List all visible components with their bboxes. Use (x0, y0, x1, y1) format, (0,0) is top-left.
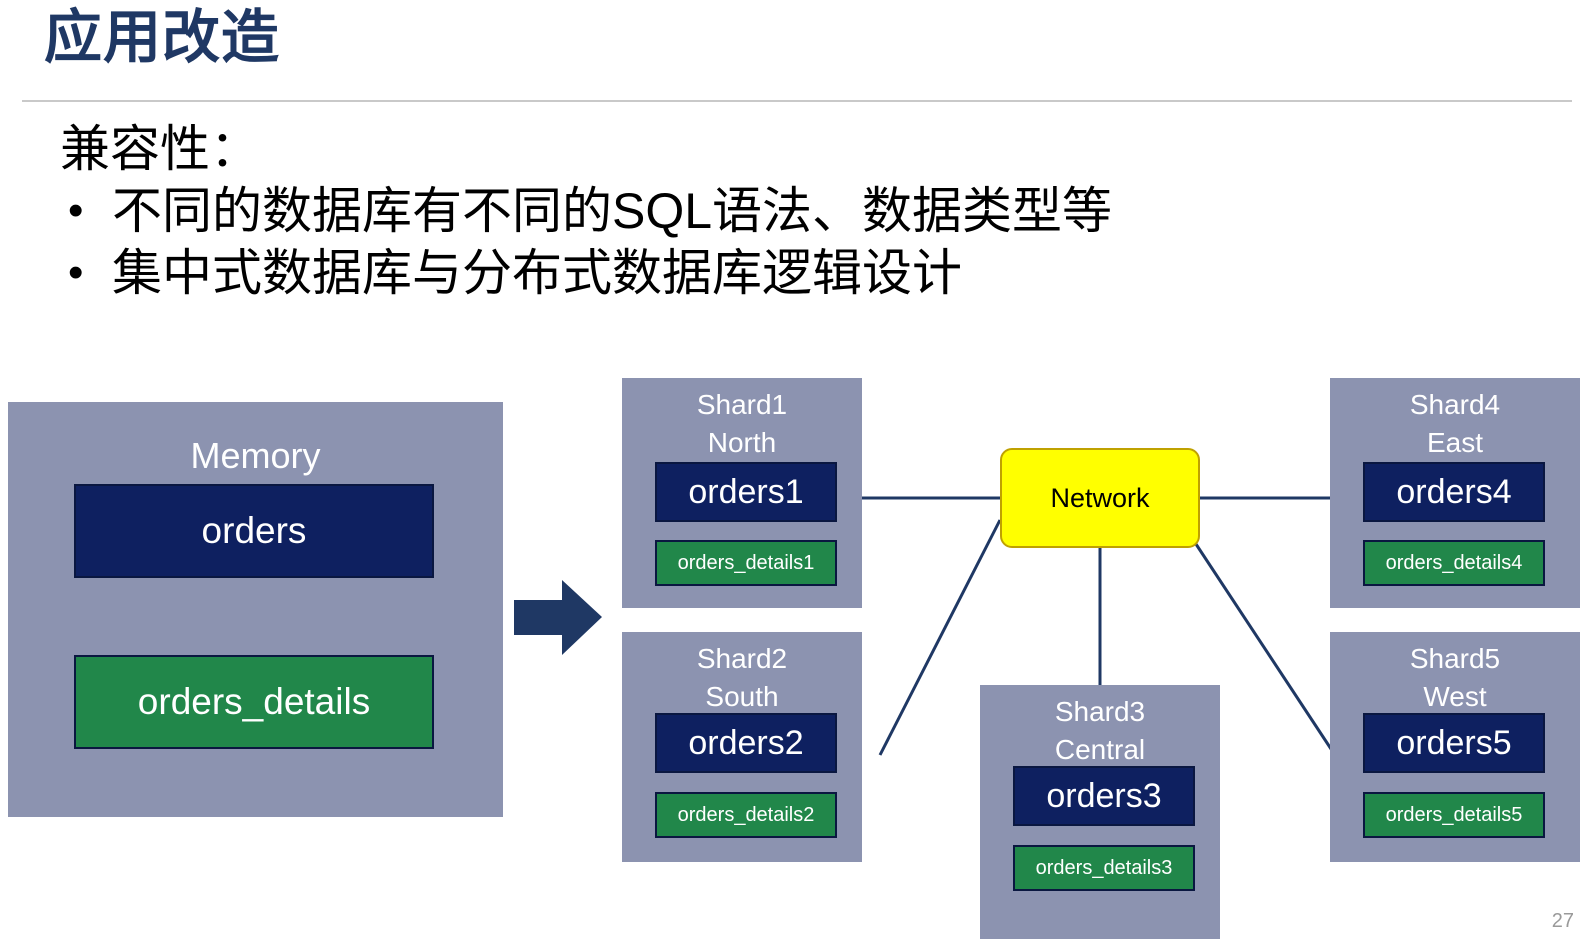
shard4-main-table: orders4 (1363, 462, 1545, 522)
bullet-marker-icon: • (60, 180, 112, 242)
body-text-block: 兼容性： • 不同的数据库有不同的SQL语法、数据类型等 • 集中式数据库与分布… (60, 118, 1510, 304)
bullet-label-2: 集中式数据库与分布式数据库逻辑设计 (112, 242, 962, 304)
shard5-main-table-label: orders5 (1396, 724, 1511, 763)
shard1-title: Shard1 (622, 378, 862, 424)
memory-title: Memory (8, 402, 503, 478)
shard4-detail-table: orders_details4 (1363, 540, 1545, 586)
bullet-item-2: • 集中式数据库与分布式数据库逻辑设计 (60, 242, 1510, 304)
page-title: 应用改造 (44, 6, 280, 70)
table-orders: orders (74, 484, 434, 578)
bullet-label-1: 不同的数据库有不同的SQL语法、数据类型等 (112, 180, 1112, 242)
memory-container: Memory (8, 402, 503, 817)
shard2-detail-table-label: orders_details2 (678, 804, 815, 827)
shard3-subtitle: Central (980, 731, 1220, 769)
shard3-detail-table-label: orders_details3 (1036, 857, 1173, 880)
bullet-marker-icon: • (60, 242, 112, 304)
page-number: 27 (1552, 910, 1574, 933)
shard5-title: Shard5 (1330, 632, 1580, 678)
shard1-main-table-label: orders1 (688, 473, 803, 512)
shard3-main-table: orders3 (1013, 766, 1195, 826)
shard2-main-table-label: orders2 (688, 724, 803, 763)
shard4-main-table-label: orders4 (1396, 473, 1511, 512)
shard1-subtitle: North (622, 424, 862, 462)
table-orders-label: orders (202, 510, 307, 552)
migration-arrow-icon (512, 575, 604, 660)
shard5-detail-table-label: orders_details5 (1386, 804, 1523, 827)
shard5-detail-table: orders_details5 (1363, 792, 1545, 838)
title-divider (22, 100, 1572, 102)
shard2-subtitle: South (622, 678, 862, 716)
shard2-main-table: orders2 (655, 713, 837, 773)
shard3-main-table-label: orders3 (1046, 777, 1161, 816)
shard4-title: Shard4 (1330, 378, 1580, 424)
bullet-item-1: • 不同的数据库有不同的SQL语法、数据类型等 (60, 180, 1510, 242)
network-node: Network (1000, 448, 1200, 548)
shard3-detail-table: orders_details3 (1013, 845, 1195, 891)
shard4-detail-table-label: orders_details4 (1386, 552, 1523, 575)
shard4-subtitle: East (1330, 424, 1580, 462)
shard1-main-table: orders1 (655, 462, 837, 522)
shard2-title: Shard2 (622, 632, 862, 678)
shard5-main-table: orders5 (1363, 713, 1545, 773)
body-heading: 兼容性： (60, 118, 1510, 180)
shard1-detail-table: orders_details1 (655, 540, 837, 586)
shard3-title: Shard3 (980, 685, 1220, 731)
shard1-detail-table-label: orders_details1 (678, 552, 815, 575)
table-orders-details-label: orders_details (138, 681, 370, 723)
shard5-subtitle: West (1330, 678, 1580, 716)
table-orders-details: orders_details (74, 655, 434, 749)
network-label: Network (1050, 483, 1149, 514)
shard2-detail-table: orders_details2 (655, 792, 837, 838)
architecture-diagram: Memory orders orders_details Shard1 Nort… (0, 370, 1594, 939)
